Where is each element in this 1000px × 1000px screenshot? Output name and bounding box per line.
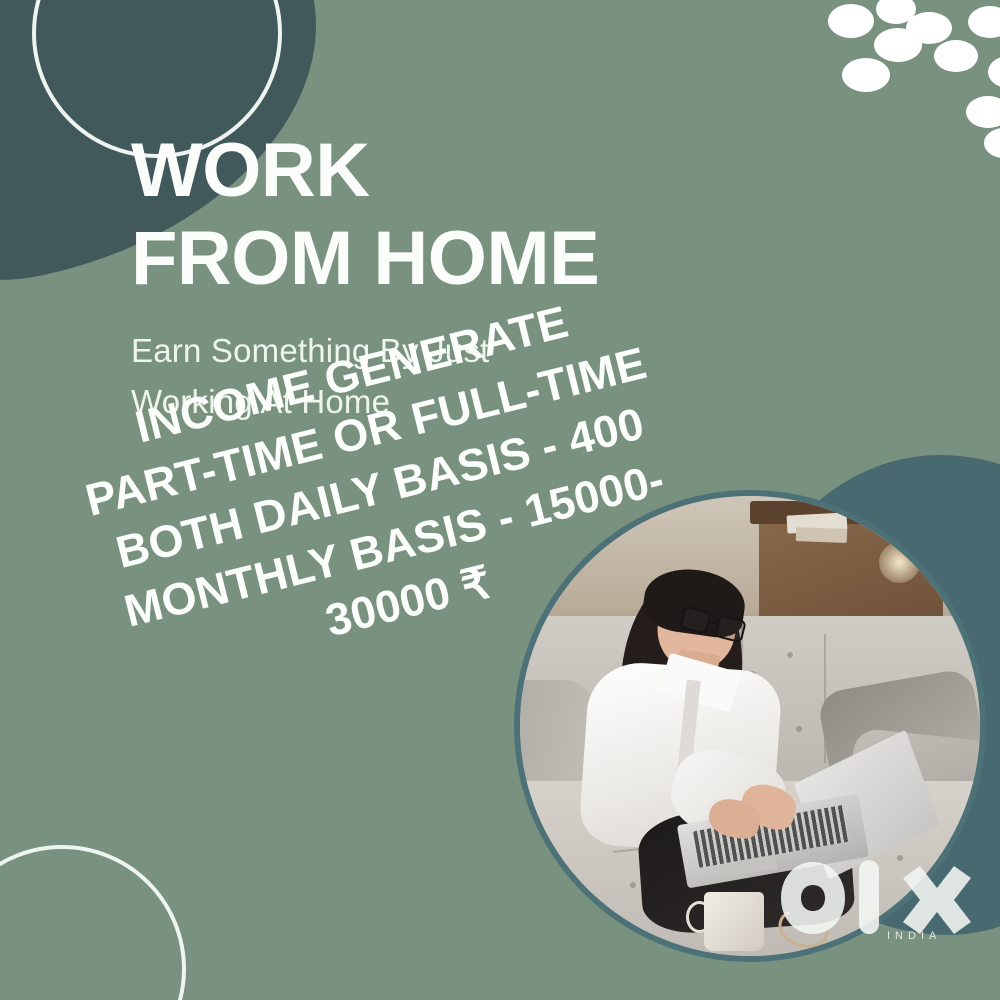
olx-region-label: INDIA	[887, 930, 941, 942]
olx-watermark: INDIA	[779, 856, 979, 966]
decorative-dot	[874, 28, 922, 62]
poster-canvas: WORK FROM HOME Earn Something By Just Wo…	[0, 0, 1000, 1000]
decorative-dot	[984, 128, 1000, 158]
decorative-dot	[966, 96, 1000, 128]
decorative-dot	[842, 58, 890, 92]
decorative-dot	[934, 40, 978, 72]
decorative-dot	[828, 4, 874, 38]
headline: WORK FROM HOME	[131, 127, 831, 303]
headline-line-2: FROM HOME	[131, 215, 831, 303]
decorative-ring-bottom-left	[0, 845, 186, 1000]
decorative-dot	[988, 56, 1000, 88]
olx-logo-icon	[779, 856, 979, 940]
headline-line-1: WORK	[131, 128, 370, 213]
decorative-dot	[968, 6, 1000, 38]
